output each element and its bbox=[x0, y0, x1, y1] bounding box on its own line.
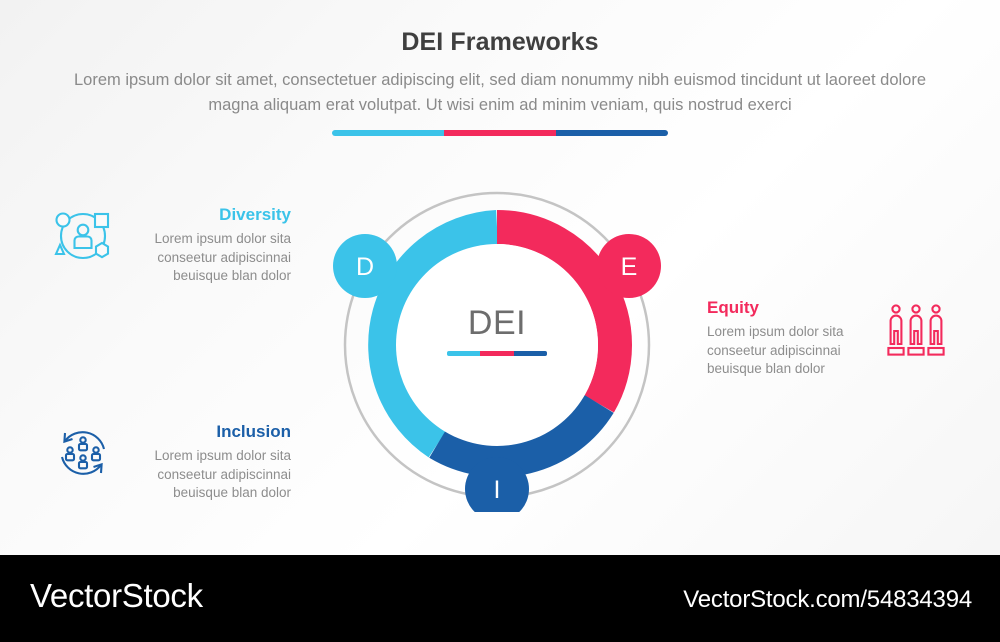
inner-disc bbox=[396, 244, 598, 446]
diversity-description: Lorem ipsum dolor sita conseetur adipisc… bbox=[126, 230, 291, 286]
equity-three-people-platform-icon bbox=[885, 298, 947, 365]
diversity-text-group: Diversity Lorem ipsum dolor sita conseet… bbox=[126, 205, 291, 286]
infographic-canvas: DEI Frameworks Lorem ipsum dolor sit ame… bbox=[0, 0, 1000, 642]
page-subtitle: Lorem ipsum dolor sit amet, consectetuer… bbox=[50, 68, 950, 118]
badge-letter-diversity: D bbox=[356, 253, 374, 281]
inclusion-people-cycle-icon bbox=[52, 422, 114, 489]
inclusion-text-group: Inclusion Lorem ipsum dolor sita conseet… bbox=[126, 422, 291, 503]
divider-segment-diversity bbox=[332, 130, 444, 136]
page-title: DEI Frameworks bbox=[0, 28, 1000, 57]
center-tricolor-underline bbox=[447, 351, 547, 356]
badge-letter-equity: E bbox=[621, 253, 638, 281]
diversity-title: Diversity bbox=[126, 205, 291, 225]
diversity-shapes-person-icon bbox=[52, 205, 114, 272]
item-block-equity[interactable]: Equity Lorem ipsum dolor sita conseetur … bbox=[707, 298, 947, 379]
stock-url: VectorStock.com/54834394 bbox=[683, 586, 972, 614]
dei-donut-diagram: D E I DEI bbox=[330, 178, 664, 512]
equity-text-group: Equity Lorem ipsum dolor sita conseetur … bbox=[707, 298, 867, 379]
badge-letter-inclusion: I bbox=[494, 476, 501, 504]
inclusion-description: Lorem ipsum dolor sita conseetur adipisc… bbox=[126, 447, 291, 503]
brand-wordmark: VectorStock bbox=[30, 577, 203, 615]
divider-segment-equity bbox=[444, 130, 556, 136]
watermark-footer: VectorStock VectorStock.com/54834394 bbox=[0, 555, 1000, 642]
item-block-inclusion[interactable]: Inclusion Lorem ipsum dolor sita conseet… bbox=[52, 422, 291, 503]
underline-segment-equity bbox=[480, 351, 513, 356]
equity-title: Equity bbox=[707, 298, 867, 318]
underline-segment-inclusion bbox=[514, 351, 547, 356]
divider-segment-inclusion bbox=[556, 130, 668, 136]
inclusion-title: Inclusion bbox=[126, 422, 291, 442]
item-block-diversity[interactable]: Diversity Lorem ipsum dolor sita conseet… bbox=[52, 205, 291, 286]
underline-segment-diversity bbox=[447, 351, 480, 356]
equity-description: Lorem ipsum dolor sita conseetur adipisc… bbox=[707, 323, 867, 379]
center-label: DEI bbox=[330, 304, 664, 343]
header-tricolor-divider bbox=[332, 130, 668, 136]
